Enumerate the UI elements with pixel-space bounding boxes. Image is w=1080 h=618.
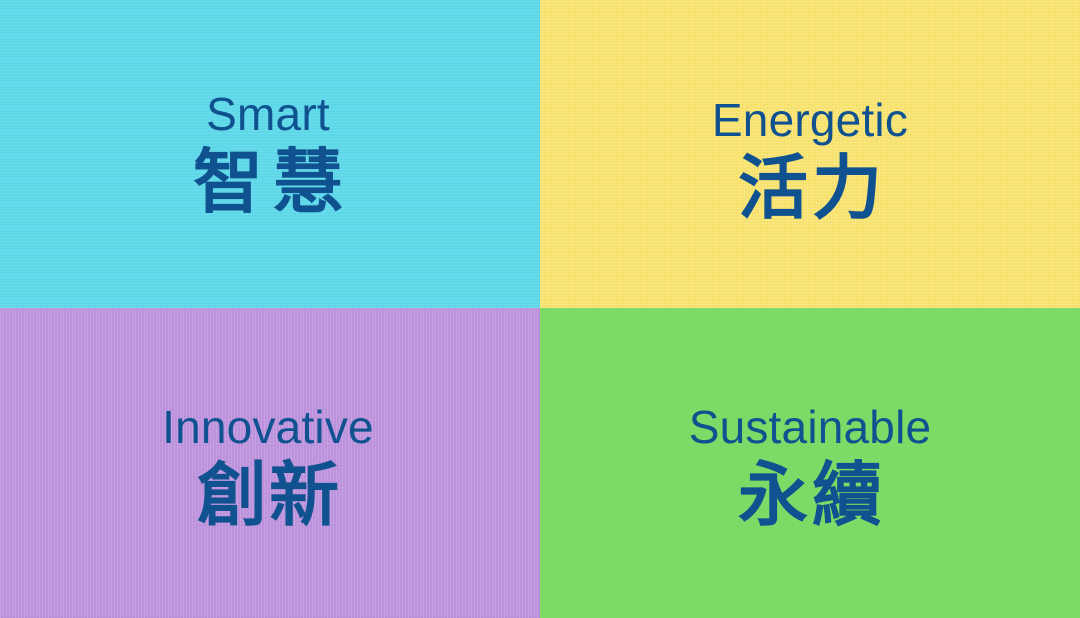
quadrant-smart[interactable]: Smart 智慧 <box>0 0 540 308</box>
quadrant-innovative[interactable]: Innovative 創新 <box>0 308 540 618</box>
quadrant-smart-label-en: Smart <box>183 91 353 139</box>
quadrant-sustainable-text-stack: Sustainable 永續 <box>689 404 932 535</box>
quadrant-sustainable-label-zh: 永續 <box>689 457 932 534</box>
brand-values-quadrant-grid: Smart 智慧 Energetic 活力 Innovative 創新 Sust… <box>0 0 1080 618</box>
quadrant-energetic-label-en: Energetic <box>712 97 908 145</box>
quadrant-smart-label-zh: 智慧 <box>183 144 353 221</box>
quadrant-sustainable-label-en: Sustainable <box>689 404 932 452</box>
quadrant-sustainable[interactable]: Sustainable 永續 <box>540 308 1080 618</box>
quadrant-smart-text-stack: Smart 智慧 <box>183 91 353 222</box>
quadrant-innovative-text-stack: Innovative 創新 <box>162 404 374 535</box>
quadrant-energetic-label-zh: 活力 <box>712 150 908 227</box>
quadrant-innovative-label-en: Innovative <box>162 404 374 452</box>
quadrant-energetic-text-stack: Energetic 活力 <box>712 97 908 228</box>
quadrant-energetic[interactable]: Energetic 活力 <box>540 0 1080 308</box>
quadrant-innovative-label-zh: 創新 <box>162 457 374 534</box>
